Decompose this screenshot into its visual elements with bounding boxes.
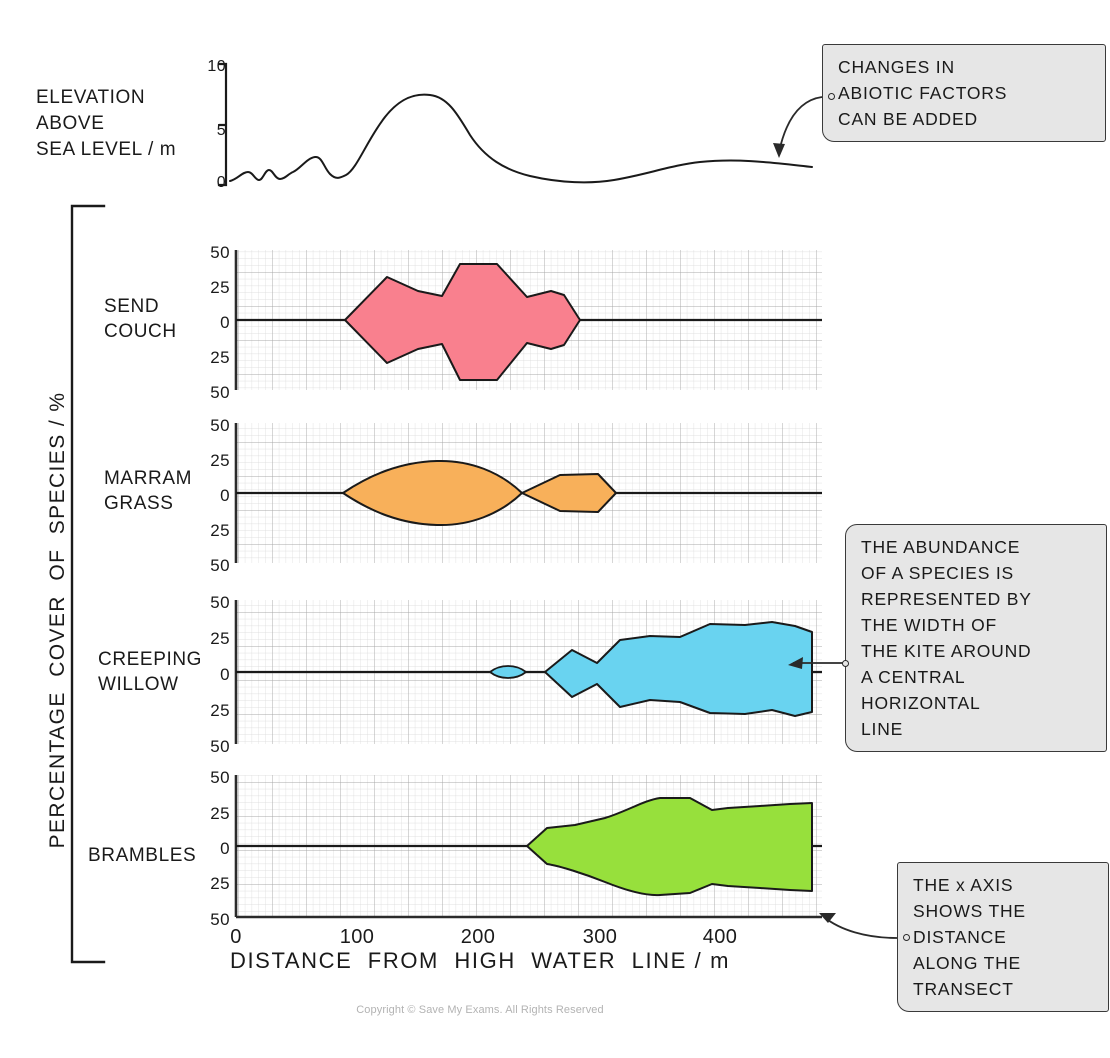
callout-abiotic-factors: CHANGES IN ABIOTIC FACTORS CAN BE ADDED bbox=[822, 44, 1106, 142]
y-axis-bracket bbox=[72, 206, 104, 962]
callout-anchor-dot-abiotic bbox=[828, 93, 835, 100]
panel-marram-grass bbox=[236, 423, 822, 563]
callout-anchor-dot-abundance bbox=[842, 660, 849, 667]
elevation-profile-curve bbox=[230, 95, 812, 183]
elevation-axis bbox=[219, 64, 226, 185]
kite-diagram-figure: ELEVATION ABOVE SEA LEVEL / m PERCENTAGE… bbox=[0, 0, 1110, 1058]
panel-send-couch bbox=[236, 250, 822, 390]
panel-creeping-willow bbox=[236, 600, 822, 744]
callout-anchor-dot-xaxis bbox=[903, 934, 910, 941]
callout-x-axis-transect: THE x AXIS SHOWS THE DISTANCE ALONG THE … bbox=[897, 862, 1109, 1012]
callout-abundance-width: THE ABUNDANCE OF A SPECIES IS REPRESENTE… bbox=[845, 524, 1107, 752]
kite-shape-creeping-willow-small bbox=[490, 666, 526, 678]
panel-brambles bbox=[236, 775, 822, 917]
